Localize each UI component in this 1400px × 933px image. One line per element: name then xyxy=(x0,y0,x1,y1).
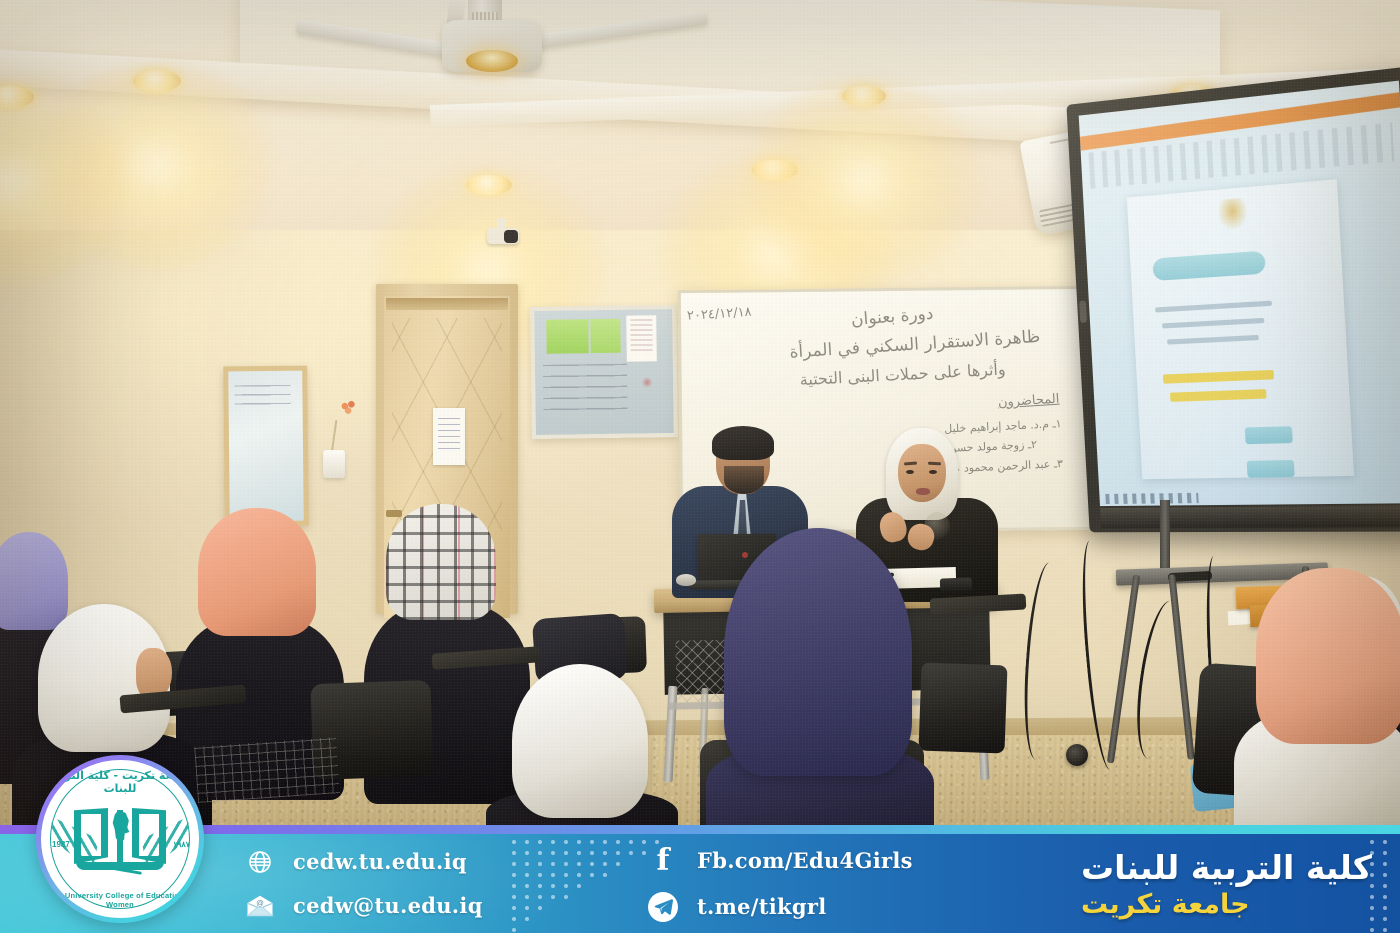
telegram-row[interactable]: t.me/tikgrl xyxy=(648,892,913,922)
facebook-icon: f xyxy=(648,846,678,876)
computer-mouse[interactable] xyxy=(676,574,696,586)
email-label: cedw@tu.edu.iq xyxy=(293,893,483,918)
footer-banner: cedw.tu.edu.iq @ cedw@tu.edu.iq f xyxy=(0,834,1400,933)
screenshot-root: ٢٠٢٤/١٢/١٨ دورة بعنوان ظاهرة الاستقرار ا… xyxy=(0,0,1400,933)
logo-year-arabic: ١٩٨٧ xyxy=(173,840,190,849)
dot-pattern-right-edge xyxy=(1370,840,1396,932)
security-camera-icon xyxy=(487,218,521,250)
caster-wheel xyxy=(1066,744,1088,766)
logo-inner-disc: جامعة تكريت - كلية التربية للبنات 1987 ١… xyxy=(41,760,199,918)
university-name-arabic: جامعة تكريت xyxy=(1081,889,1250,920)
whiteboard-date: ٢٠٢٤/١٢/١٨ xyxy=(687,305,752,324)
logo-arabic-text: جامعة تكريت - كلية التربية للبنات xyxy=(41,769,199,795)
footer-socials: f Fb.com/Edu4Girls t.me/tikgrl xyxy=(648,834,913,933)
laptop-logo xyxy=(742,552,748,558)
accent-gradient-strip xyxy=(0,825,1400,834)
downlight-icon xyxy=(752,160,798,180)
smartboard-screen[interactable] xyxy=(1079,81,1400,506)
smartboard-bezel xyxy=(1066,66,1400,532)
door-handle[interactable] xyxy=(386,510,402,517)
website-contact-row[interactable]: cedw.tu.edu.iq xyxy=(246,848,483,876)
telegram-icon xyxy=(648,892,678,922)
whiteboard-line-1: ظاهرة الاستقرار السكني في المرأة xyxy=(789,327,1041,363)
logo-english-text: Tikrit University College of Education f… xyxy=(41,891,199,909)
event-photograph: ٢٠٢٤/١٢/١٨ دورة بعنوان ظاهرة الاستقرار ا… xyxy=(0,0,1400,933)
door-top-rail xyxy=(386,298,508,310)
footer-contacts: cedw.tu.edu.iq @ cedw@tu.edu.iq xyxy=(246,834,483,933)
college-name-arabic: كلية التربية للبنات xyxy=(1081,848,1372,887)
ceiling-fan xyxy=(390,0,730,104)
interactive-smartboard[interactable] xyxy=(1066,66,1400,532)
brand-block: كلية التربية للبنات جامعة تكريت xyxy=(1081,834,1372,933)
whiteboard-presenter-2: ٢ـ زوجة مولد حسن xyxy=(948,438,1037,455)
door-notice-paper xyxy=(433,408,465,465)
whiteboard-presenter-1: ١ـ م.د. ماجد إبراهيم خليل xyxy=(944,417,1062,435)
whiteboard-presenters-label: المحاضرون xyxy=(998,392,1060,411)
envelope-icon: @ xyxy=(246,892,274,920)
whiteboard-line-2: وأثرها على حملات البنى التحتية xyxy=(799,359,1006,389)
whiteboard-title: دورة بعنوان xyxy=(850,304,934,331)
downlight-icon xyxy=(466,175,512,195)
university-logo: جامعة تكريت - كلية التربية للبنات 1987 ١… xyxy=(36,755,204,923)
facebook-label: Fb.com/Edu4Girls xyxy=(697,848,913,873)
mobile-phone[interactable] xyxy=(940,577,972,591)
telegram-label: t.me/tikgrl xyxy=(697,894,827,919)
bulletin-board xyxy=(530,305,678,439)
flower-icon xyxy=(336,398,358,416)
woman-silhouette-icon xyxy=(107,810,133,848)
chair-wire-basket xyxy=(194,737,340,803)
logo-year-latin: 1987 xyxy=(52,840,70,849)
wall-holder xyxy=(323,450,345,478)
globe-icon xyxy=(246,848,274,876)
facebook-row[interactable]: f Fb.com/Edu4Girls xyxy=(648,846,913,876)
website-label: cedw.tu.edu.iq xyxy=(293,849,467,874)
wall-mirror-frame xyxy=(223,366,309,527)
downlight-icon xyxy=(133,70,181,92)
email-contact-row[interactable]: @ cedw@tu.edu.iq xyxy=(246,892,483,920)
downlight-icon xyxy=(842,86,886,106)
svg-text:@: @ xyxy=(256,898,264,907)
stand-post xyxy=(1160,500,1170,576)
whiteboard-presenter-3: ٣ـ عبد الرحمن محمود عبد xyxy=(944,457,1063,475)
facebook-glyph: f xyxy=(657,846,670,876)
chair[interactable] xyxy=(918,663,1007,754)
